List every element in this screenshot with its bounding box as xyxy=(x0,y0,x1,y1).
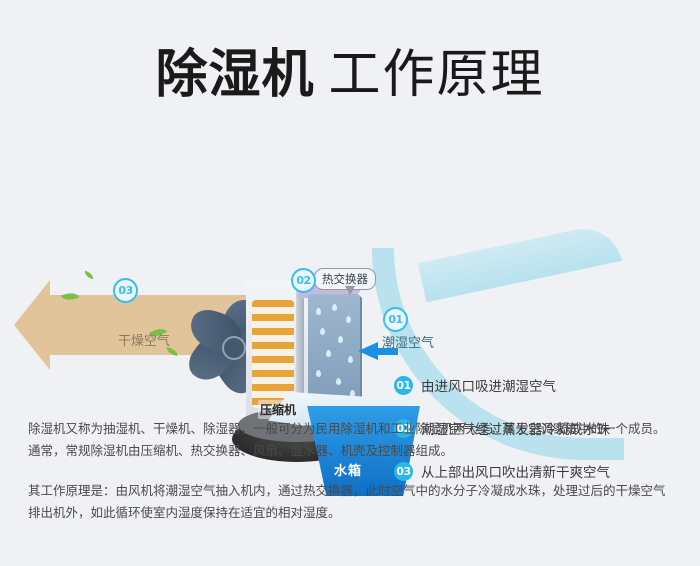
callout-tail-icon xyxy=(345,286,355,295)
airflow-intake-arrow-icon xyxy=(358,342,378,360)
dry-air-arrow-head-icon xyxy=(14,280,50,370)
step-text-01: 由进风口吸进潮湿空气 xyxy=(421,375,556,395)
step-badge-01: 01 xyxy=(394,376,413,395)
description-block: 除湿机又称为抽湿机、干燥机、除湿器，一般可分为民用除湿机和工业除湿机两大类，属于… xyxy=(28,418,674,542)
humid-air-label: 潮湿空气 xyxy=(382,332,434,351)
dehumidifier-diagram: 水箱 压缩机 热交换器 03 02 01 干燥空气 潮湿空气 01 由进风口吸进… xyxy=(0,120,700,400)
paragraph-1: 除湿机又称为抽湿机、干燥机、除湿器，一般可分为民用除湿机和工业除湿机两大类，属于… xyxy=(28,418,674,462)
diagram-badge-02: 02 xyxy=(291,268,316,293)
compressor-label: 压缩机 xyxy=(258,400,298,419)
page-title-bold: 除湿机 xyxy=(155,45,314,105)
diagram-badge-03: 03 xyxy=(113,278,138,303)
list-item: 01 由进风口吸进潮湿空气 xyxy=(394,375,610,395)
paragraph-2: 其工作原理是：由风机将潮湿空气抽入机内，通过热交换器，此时空气中的水分子冷凝成水… xyxy=(28,480,674,524)
page-title-light: 工作原理 xyxy=(329,45,545,105)
leaf-icon xyxy=(83,271,94,280)
page-title: 除湿机工作原理 xyxy=(0,32,700,107)
page-root: 除湿机工作原理 xyxy=(0,0,700,566)
paragraph-1-line-1: 除湿机又称为抽湿机、干燥机、除湿器，一般可分为民用除湿机和工业除湿机两大类，属于… xyxy=(28,418,674,440)
paragraph-2-line-2: 排出机外，如此循环使室内湿度保持在适宜的相对湿度。 xyxy=(28,502,674,524)
diagram-badge-01: 01 xyxy=(383,307,408,332)
condenser-coil-icon xyxy=(252,300,294,408)
paragraph-1-line-2: 通常，常规除湿机由压缩机、热交换器、风扇、盛水器、机壳及控制器组成。 xyxy=(28,440,674,462)
paragraph-2-line-1: 其工作原理是：由风机将潮湿空气抽入机内，通过热交换器，此时空气中的水分子冷凝成水… xyxy=(28,480,674,502)
dry-air-label: 干燥空气 xyxy=(118,330,170,349)
